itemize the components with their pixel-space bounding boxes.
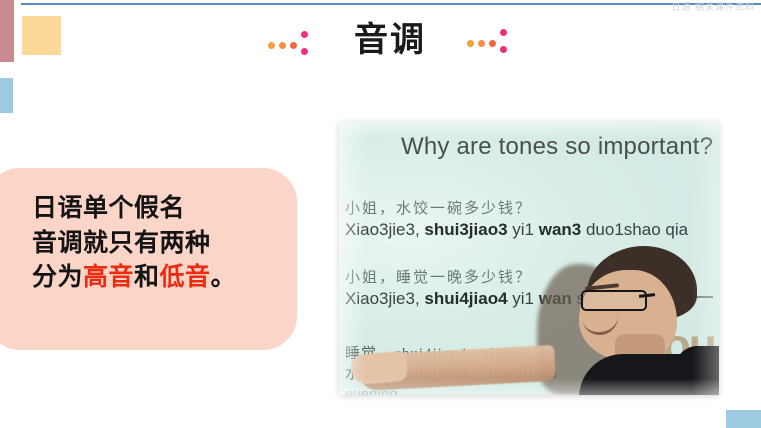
callout-highlight-low: 低音	[160, 263, 211, 291]
decoration-rose-bar	[0, 0, 14, 62]
page-title: 音调	[354, 23, 426, 57]
projected-example-1: 小姐，水饺一碗多少钱？ Xiao3jie3, shui3jiao3 yi1 wa…	[345, 197, 688, 240]
decoration-blue-bar	[0, 78, 13, 113]
speaker-hand	[350, 351, 408, 386]
callout-line3-prefix: 分为	[32, 263, 83, 291]
slide-title-group: 音调	[255, 14, 525, 66]
example-1-pinyin-part-2: yi1	[508, 220, 539, 239]
projected-slide-title: Why are tones so important?	[401, 133, 713, 161]
callout-line-2: 音调就只有两种	[32, 226, 282, 261]
decorative-dots-right-icon	[467, 28, 515, 54]
callout-highlight-high: 高音	[83, 263, 134, 291]
glasses-icon	[581, 290, 647, 311]
top-faint-label: 日语 相关课件资料	[671, 0, 755, 13]
example-2-pinyin-part-1: shui4jiao4	[424, 289, 507, 308]
example-1-pinyin-part-4: duo1shao qia	[581, 220, 688, 239]
decoration-blue-corner-block	[726, 410, 761, 428]
speaker-person	[535, 242, 719, 395]
example-1-pinyin-part-3: wan3	[539, 220, 582, 239]
slide-canvas: 日语 相关课件资料 音调 日语单个假名 音调就只有两种 分为高音和低音。 Why…	[0, 0, 761, 428]
callout-line-3: 分为高音和低音。	[32, 260, 282, 295]
example-1-pinyin: Xiao3jie3, shui3jiao3 yi1 wan3 duo1shao …	[345, 220, 688, 240]
callout-line3-period: 。	[211, 263, 237, 291]
decoration-yellow-square	[22, 16, 61, 55]
callout-line-1: 日语单个假名	[32, 191, 282, 226]
pink-callout-box: 日语单个假名 音调就只有两种 分为高音和低音。	[0, 168, 297, 350]
example-1-pinyin-part-1: shui3jiao3	[424, 220, 507, 239]
example-1-pinyin-part-0: Xiao3jie3,	[345, 220, 424, 239]
decorative-dots-left-icon	[268, 30, 316, 56]
top-divider-rule	[21, 3, 761, 5]
lecture-photo: Why are tones so important? 小姐，水饺一碗多少钱？ …	[339, 122, 719, 395]
callout-line3-mid: 和	[134, 263, 160, 291]
callout-text-block: 日语单个假名 音调就只有两种 分为高音和低音。	[32, 191, 282, 295]
example-1-chinese: 小姐，水饺一碗多少钱？	[345, 197, 688, 218]
example-2-pinyin-part-0: Xiao3jie3,	[345, 289, 424, 308]
